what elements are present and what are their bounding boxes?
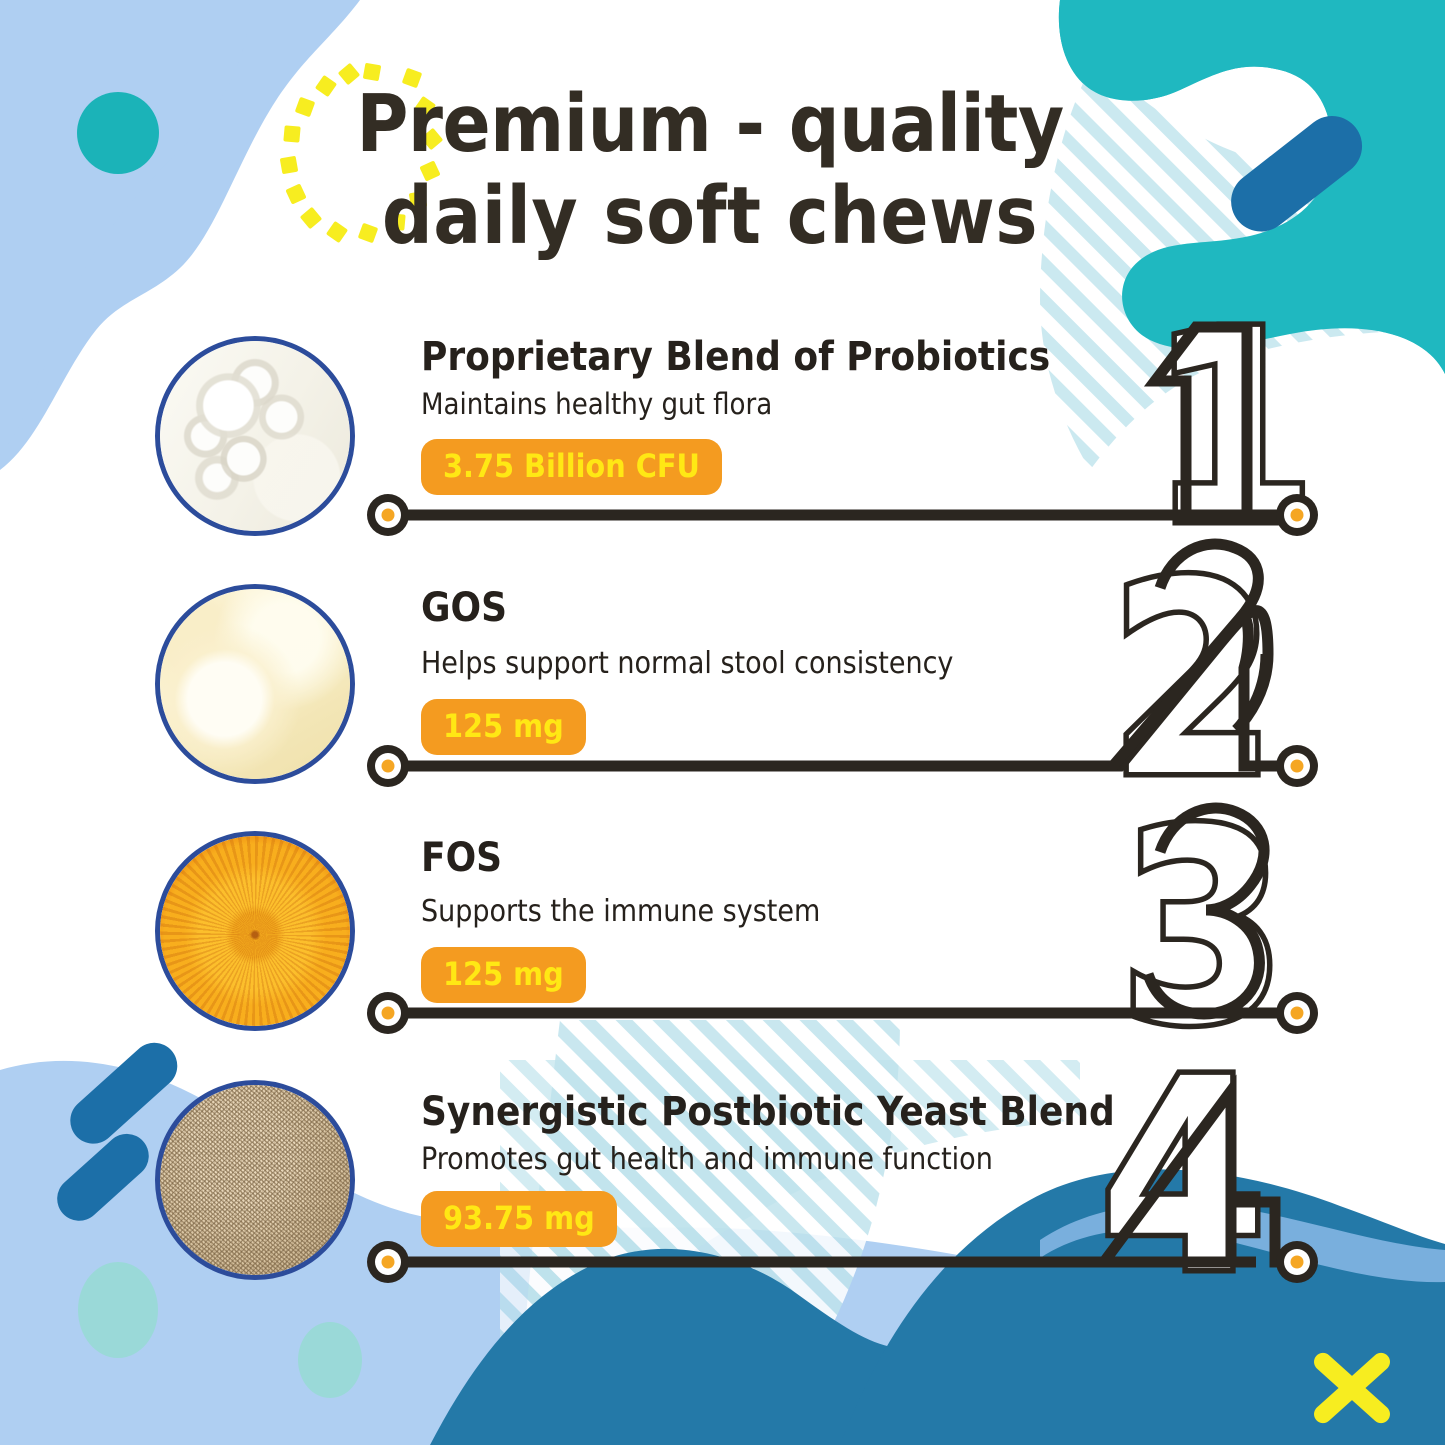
- kefir-yogurt-texture: [160, 341, 350, 531]
- ingredient-text-1: Proprietary Blend of Probiotics Maintain…: [421, 335, 1050, 495]
- ingredient-subtitle-2: Helps support normal stool consistency: [421, 645, 953, 683]
- ingredient-amount-2: 125 mg: [421, 699, 586, 755]
- ingredient-image-4: [155, 1080, 355, 1280]
- cream-texture: [160, 589, 350, 779]
- ingredient-title-3: FOS: [421, 836, 820, 881]
- page-title: Premium - quality daily soft chews: [330, 78, 1090, 263]
- ingredient-amount-3: 125 mg: [421, 947, 586, 1003]
- ingredient-amount-1: 3.75 Billion CFU: [421, 439, 722, 495]
- ingredient-image-1: [155, 336, 355, 536]
- infographic-canvas: 1 2 3 4 Premium - quality daily soft che…: [0, 0, 1445, 1445]
- ingredient-text-4: Synergistic Postbiotic Yeast Blend Promo…: [421, 1090, 1115, 1247]
- ingredient-image-2: [155, 584, 355, 784]
- ingredient-subtitle-1: Maintains healthy gut flora: [421, 386, 1050, 422]
- ingredient-subtitle-3: Supports the immune system: [421, 893, 820, 931]
- page-title-line-2: daily soft chews: [330, 170, 1090, 262]
- ingredient-image-3: [155, 831, 355, 1031]
- ingredient-text-3: FOS Supports the immune system 125 mg: [421, 836, 820, 1003]
- content-layer: Premium - quality daily soft chews Propr…: [0, 0, 1445, 1445]
- yeast-granules-texture: [160, 1085, 350, 1275]
- ingredient-text-2: GOS Helps support normal stool consisten…: [421, 586, 953, 755]
- page-title-line-1: Premium - quality: [330, 78, 1090, 170]
- ingredient-subtitle-4: Promotes gut health and immune function: [421, 1141, 1115, 1179]
- ingredient-amount-4: 93.75 mg: [421, 1191, 617, 1247]
- ingredient-title-1: Proprietary Blend of Probiotics: [421, 335, 1050, 380]
- ingredient-title-2: GOS: [421, 586, 953, 631]
- chicory-root-texture: [160, 836, 350, 1026]
- ingredient-title-4: Synergistic Postbiotic Yeast Blend: [421, 1090, 1115, 1135]
